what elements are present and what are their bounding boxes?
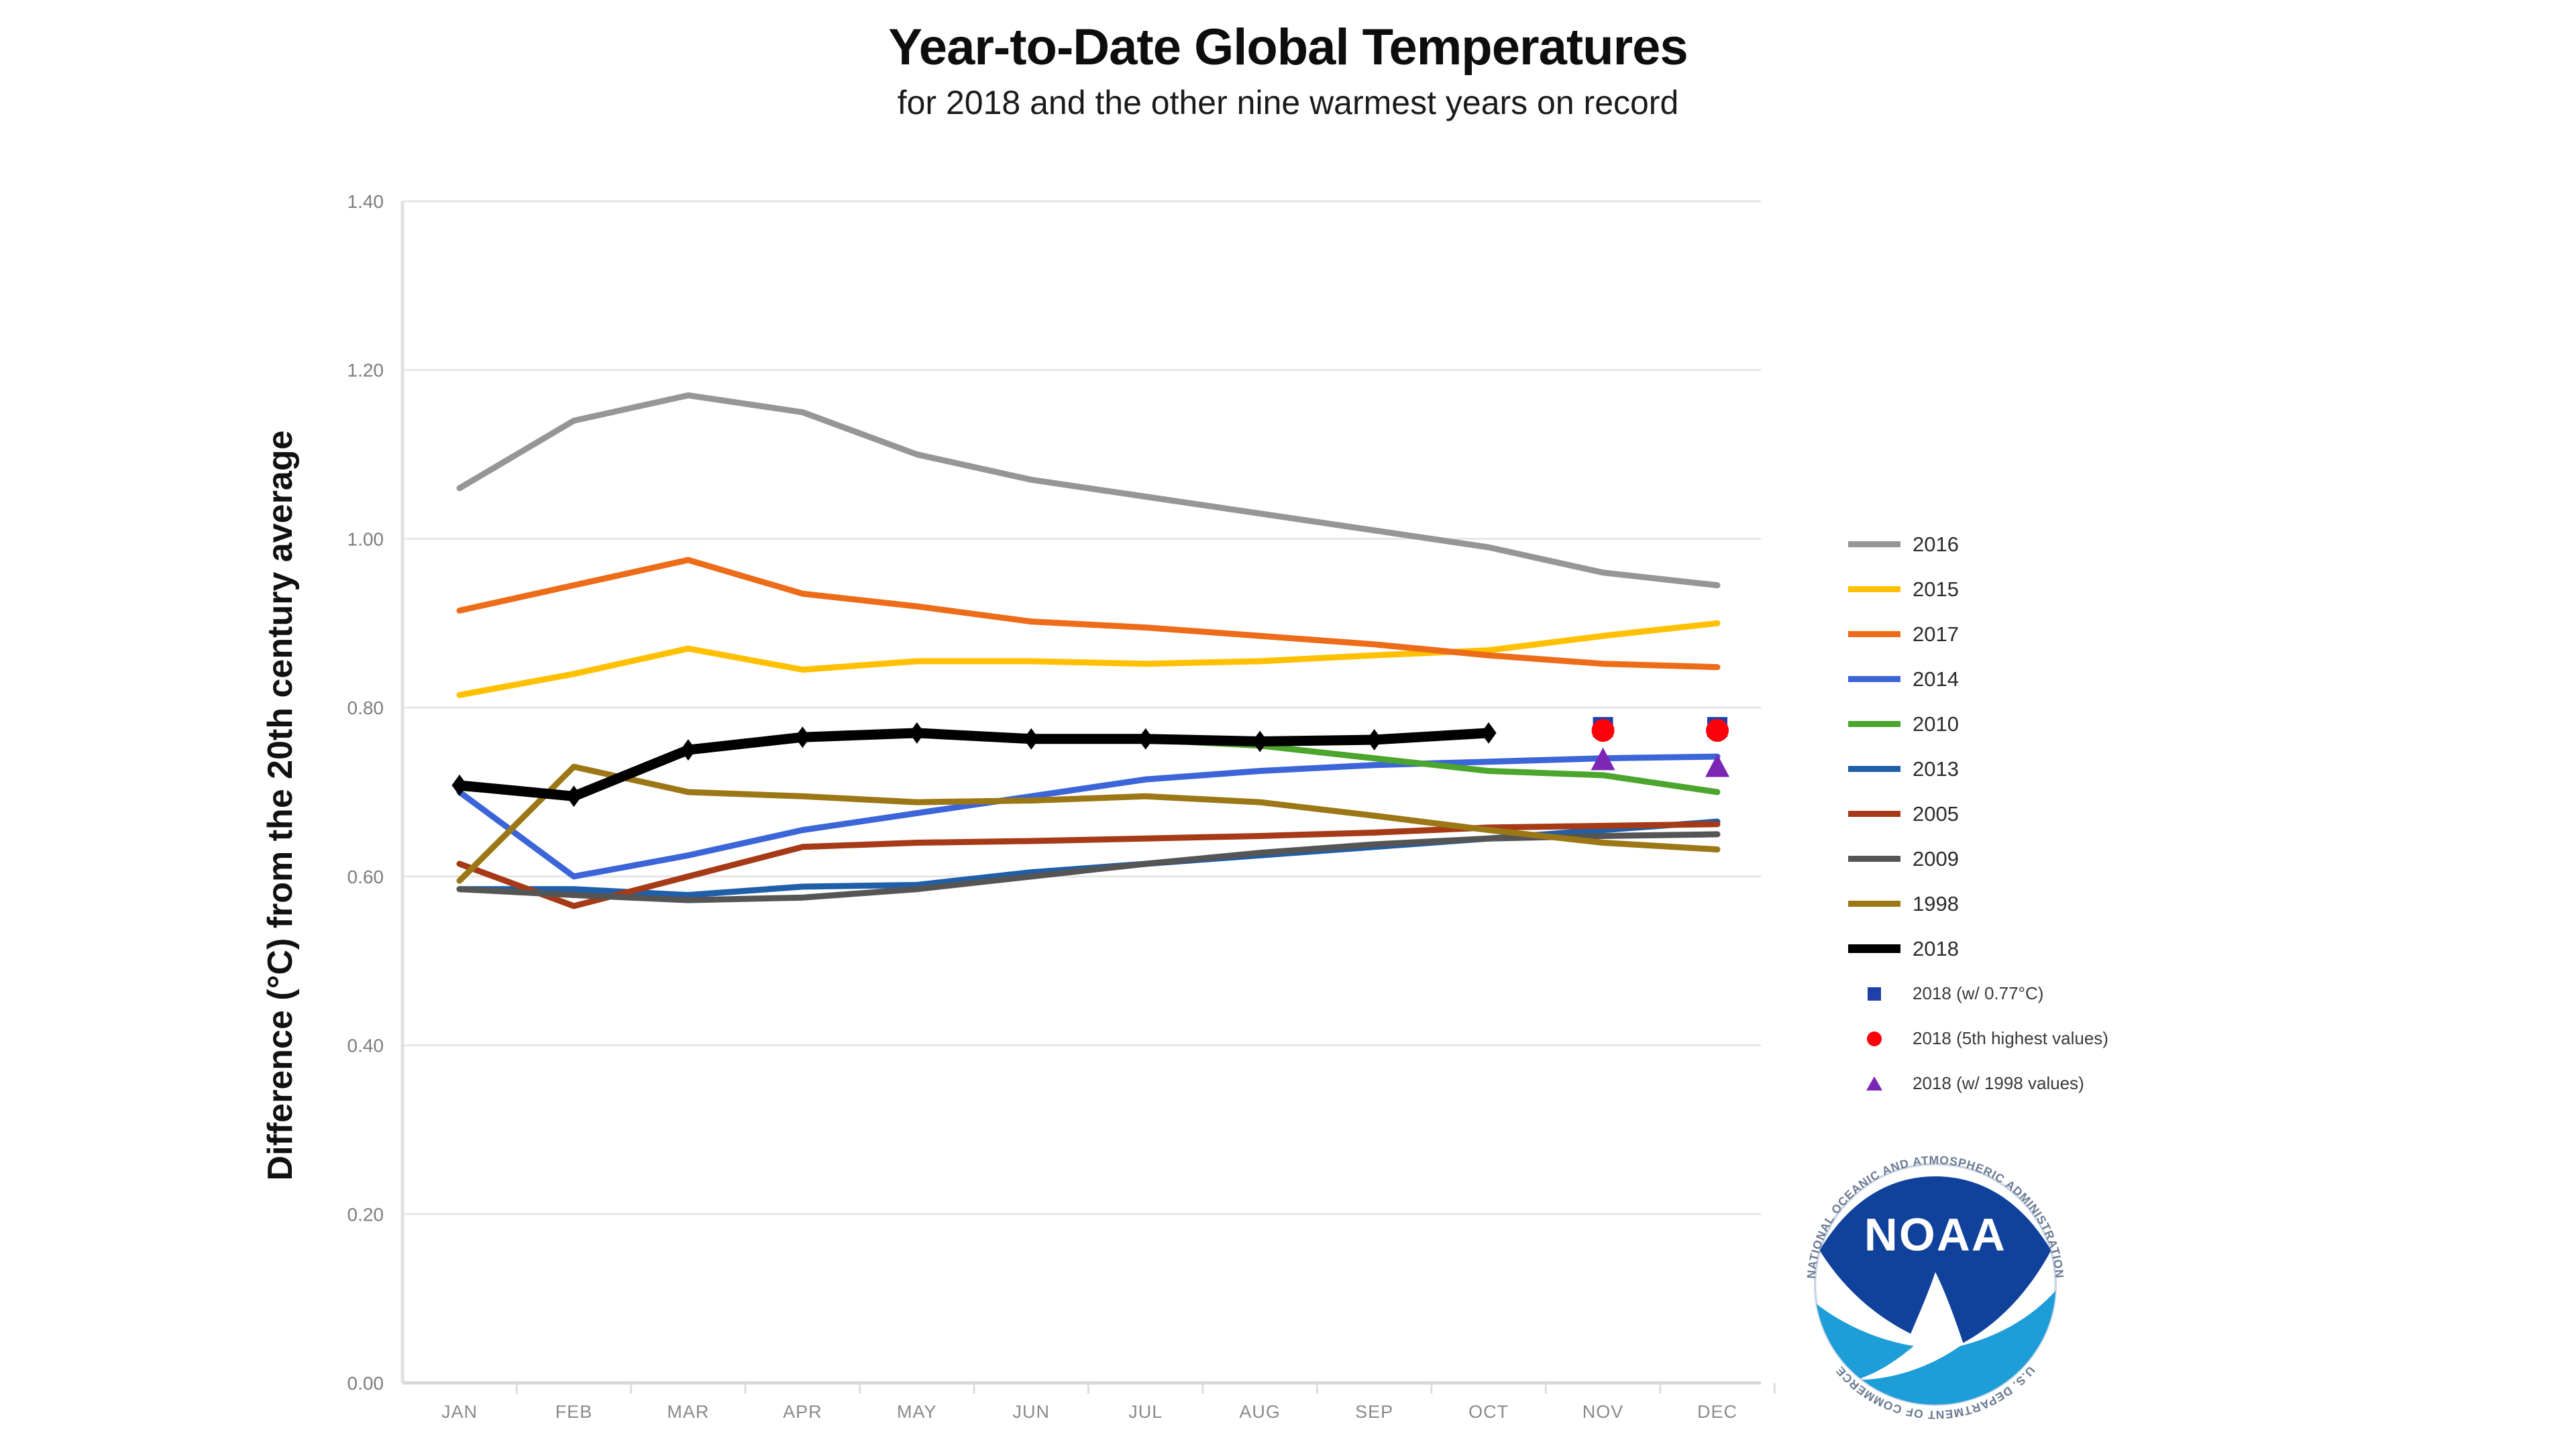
y-tick-label: 0.60 <box>347 867 384 887</box>
series-point-2018 <box>909 722 924 744</box>
data-series <box>451 395 1717 905</box>
series-point-2018 <box>795 726 810 748</box>
legend-item-label: 2016 <box>1913 533 1959 557</box>
x-tick-label: DEC <box>1697 1402 1737 1422</box>
series-point-2018 <box>1138 728 1153 750</box>
x-tick-label: JUN <box>1013 1402 1051 1422</box>
data-point-markers <box>1591 717 1729 777</box>
series-point-2018 <box>1481 722 1497 744</box>
legend-item-label: 2015 <box>1913 577 1959 602</box>
legend-item-2013[interactable]: 2013 <box>1848 746 2224 791</box>
gridlines <box>402 201 1761 1383</box>
legend-line-swatch <box>1848 721 1900 727</box>
legend-item-2005[interactable]: 2005 <box>1848 791 2224 836</box>
legend-line-swatch <box>1848 766 1900 772</box>
y-tick-label: 0.40 <box>347 1036 384 1056</box>
legend-line-swatch <box>1848 856 1900 862</box>
axis-lines <box>402 201 1761 1383</box>
x-tick-label: SEP <box>1355 1402 1393 1422</box>
legend-item-label: 2017 <box>1913 622 1959 647</box>
legend-marker-swatch <box>1848 984 1900 1004</box>
y-tick-label: 1.00 <box>347 528 384 549</box>
x-tick-label: AUG <box>1239 1402 1281 1422</box>
legend-item-2018[interactable]: 2018 <box>1848 926 2224 971</box>
legend-item-label: 2018 (w/ 1998 values) <box>1913 1073 2084 1094</box>
legend-item-2016[interactable]: 2016 <box>1848 522 2224 567</box>
x-tick-label: JAN <box>441 1402 478 1422</box>
chart-legend[interactable]: 2016201520172014201020132005200919982018… <box>1848 522 2224 1106</box>
triangle-marker-icon <box>1866 1076 1882 1091</box>
x-tick-labels: JANFEBMARAPRMAYJUNJULAUGSEPOCTNOVDEC <box>441 1383 1774 1422</box>
legend-line-swatch <box>1848 901 1900 907</box>
y-tick-label: 0.80 <box>347 698 384 718</box>
slide-canvas: Year-to-Date Global Temperatures for 201… <box>0 0 2576 1450</box>
legend-item-circle[interactable]: 2018 (5th highest values) <box>1848 1016 2224 1061</box>
x-tick-label: APR <box>783 1402 822 1422</box>
marker-circle <box>1706 719 1729 742</box>
legend-item-label: 2009 <box>1913 847 1959 871</box>
legend-line-swatch <box>1848 676 1900 682</box>
y-tick-label: 0.00 <box>347 1373 384 1394</box>
legend-item-1998[interactable]: 1998 <box>1848 881 2224 926</box>
legend-item-triangle[interactable]: 2018 (w/ 1998 values) <box>1848 1061 2224 1106</box>
y-tick-label: 1.20 <box>347 360 384 381</box>
legend-line-swatch <box>1848 631 1900 637</box>
y-tick-label: 0.20 <box>347 1204 384 1225</box>
noaa-logo-icon: NATIONAL OCEANIC AND ATMOSPHERIC ADMINIS… <box>1781 1130 2090 1439</box>
legend-marker-swatch <box>1848 1029 1900 1049</box>
legend-item-label: 2014 <box>1913 667 1959 691</box>
circle-marker-icon <box>1867 1031 1882 1046</box>
legend-item-2015[interactable]: 2015 <box>1848 567 2224 612</box>
noaa-wordmark: NOAA <box>1864 1209 2006 1260</box>
series-point-2018 <box>1024 728 1039 750</box>
legend-item-2010[interactable]: 2010 <box>1848 702 2224 746</box>
legend-item-label: 2010 <box>1913 712 1959 736</box>
legend-item-label: 1998 <box>1913 892 1959 916</box>
legend-item-2009[interactable]: 2009 <box>1848 836 2224 881</box>
series-point-2018 <box>1366 729 1382 750</box>
marker-circle <box>1592 719 1615 742</box>
legend-item-2014[interactable]: 2014 <box>1848 657 2224 702</box>
x-tick-label: MAR <box>667 1402 709 1422</box>
legend-item-label: 2018 <box>1913 937 1959 961</box>
legend-line-swatch <box>1848 541 1900 547</box>
y-tick-label: 1.40 <box>347 191 384 212</box>
legend-marker-swatch <box>1848 1074 1900 1094</box>
x-tick-label: OCT <box>1468 1402 1509 1422</box>
square-marker-icon <box>1868 987 1881 1001</box>
legend-item-label: 2018 (5th highest values) <box>1913 1028 2108 1049</box>
legend-line-swatch <box>1848 944 1900 953</box>
legend-item-label: 2018 (w/ 0.77°C) <box>1913 983 2043 1004</box>
series-line-2017 <box>460 560 1717 667</box>
x-tick-label: JUL <box>1128 1402 1163 1422</box>
y-tick-labels: 0.000.200.400.600.801.001.201.40 <box>347 191 384 1394</box>
legend-line-swatch <box>1848 586 1900 592</box>
x-tick-label: FEB <box>555 1402 593 1422</box>
x-tick-label: MAY <box>897 1402 937 1422</box>
legend-item-square[interactable]: 2018 (w/ 0.77°C) <box>1848 971 2224 1016</box>
legend-item-2017[interactable]: 2017 <box>1848 612 2224 657</box>
legend-item-label: 2005 <box>1913 802 1959 826</box>
legend-item-label: 2013 <box>1913 757 1959 781</box>
legend-line-swatch <box>1848 811 1900 817</box>
x-tick-label: NOV <box>1582 1402 1624 1422</box>
series-line-2016 <box>460 395 1717 585</box>
